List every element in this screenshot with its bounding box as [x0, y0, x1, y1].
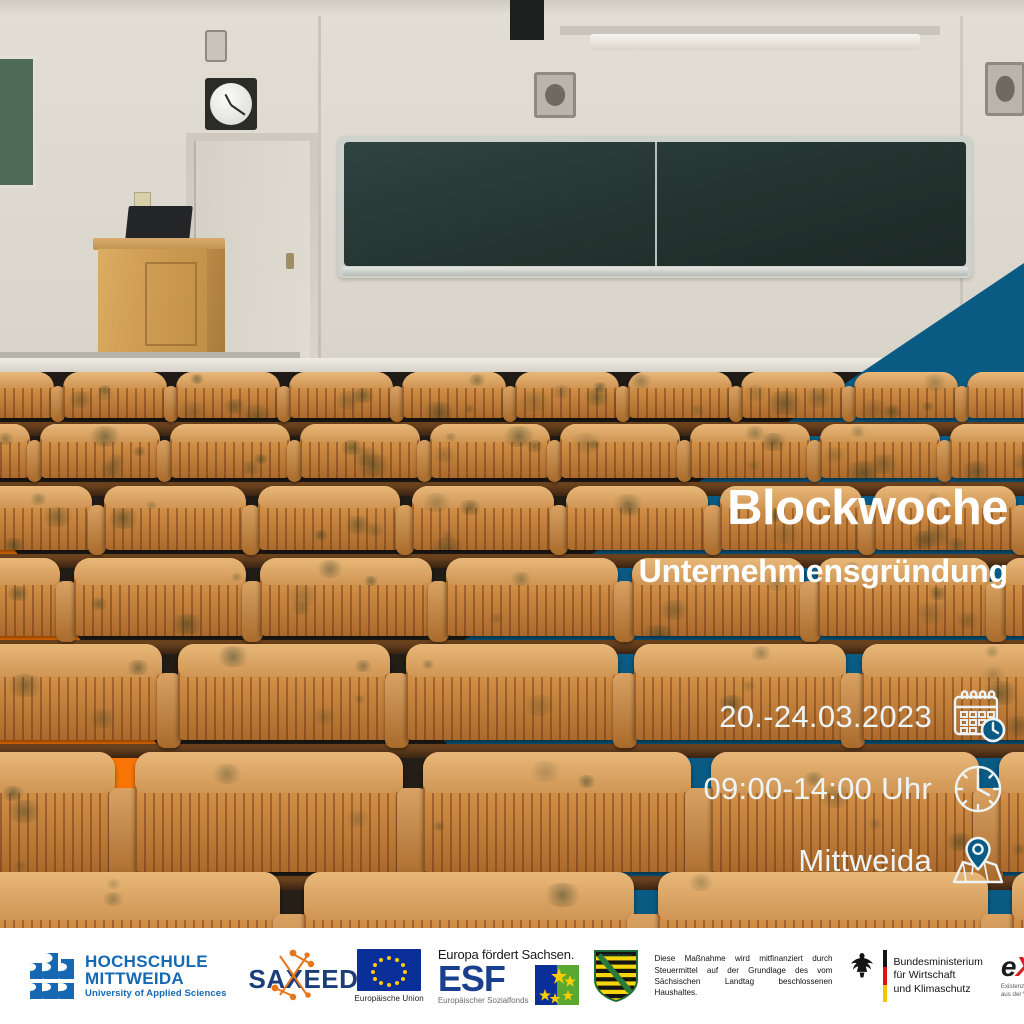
lecture-seat [0, 486, 92, 550]
laptop-icon [125, 206, 193, 240]
lecture-seat [40, 424, 160, 478]
lecture-seat [0, 424, 30, 478]
lecture-seat [289, 372, 393, 418]
lecture-seat [170, 424, 290, 478]
lecture-seat [820, 424, 940, 478]
logo-european-union: Europäische Union [355, 949, 424, 1003]
wall-seam [318, 0, 321, 372]
calendar-clock-icon [948, 688, 1010, 746]
bundesadler-icon [849, 948, 875, 1004]
lecture-seat [854, 372, 958, 418]
wall-box-icon [205, 30, 227, 62]
event-details-list: 20.-24.03.2023 [390, 688, 1010, 904]
green-wall-panel [0, 56, 36, 188]
bmwk-line1: Bundesministerium [894, 956, 983, 969]
lecture-podium [93, 238, 225, 366]
page-title: Blockwoche [308, 484, 1008, 533]
hochschule-line2: MITTWEIDA [85, 970, 227, 987]
poster-canvas: Blockwoche Unternehmensgründung 20.-24.0… [0, 0, 1024, 1024]
hochschule-line3: University of Applied Sciences [85, 989, 227, 999]
stage-rail [0, 352, 300, 358]
esf-subtitle: Europäischer Sozialfonds [438, 996, 529, 1005]
ceiling-duct [510, 0, 544, 40]
clock-icon [948, 760, 1010, 818]
page-subtitle: Unternehmensgründung [308, 555, 1008, 589]
event-detail-time: 09:00-14:00 Uhr [390, 760, 1010, 818]
headline-block: Blockwoche Unternehmensgründung [308, 484, 1008, 589]
lecture-seat [0, 752, 115, 872]
lecture-seat [104, 486, 246, 550]
seat-armrest [1012, 505, 1024, 555]
lecture-seat [135, 752, 403, 872]
logo-bundesministerium: Bundesministerium für Wirtschaft und Kli… [849, 948, 983, 1004]
lecture-seat [741, 372, 845, 418]
funding-note-text: Diese Maßnahme wird mitfinanziert durch … [655, 953, 833, 999]
logo-esf: Europa fördert Sachsen. ESF Europäischer… [438, 947, 579, 1005]
event-time-text: 09:00-14:00 Uhr [703, 771, 932, 807]
lecture-seat [430, 424, 550, 478]
fluorescent-tube-icon [590, 34, 920, 50]
lecture-seat [1012, 872, 1024, 928]
bmwk-line2: für Wirtschaft [894, 969, 983, 982]
lecture-seat [628, 372, 732, 418]
german-flag-bar-icon [883, 950, 887, 1002]
logo-freistaat-sachsen: Freistaat Sachsen [593, 949, 639, 1003]
sponsor-logo-bar: HOCHSCHULE MITTWEIDA University of Appli… [0, 928, 1024, 1024]
saxony-shield-label: Freistaat Sachsen [600, 953, 631, 957]
exist-x: X [1016, 951, 1024, 982]
lecture-seat [967, 372, 1024, 418]
wall-clock-icon [205, 78, 257, 130]
logo-saxeed: SAXEED [249, 948, 345, 1004]
logo-funding-note: Diese Maßnahme wird mitfinanziert durch … [655, 953, 833, 999]
lecture-seat [0, 558, 60, 636]
lecture-seat [74, 558, 246, 636]
eu-flag-icon [357, 949, 421, 991]
lecture-seat [560, 424, 680, 478]
map-pin-icon [948, 832, 1010, 890]
exist-subtitle: Existenzgründungen aus der Wissenschaft [1001, 983, 1024, 999]
exist-wordmark: eXIST [1001, 953, 1024, 981]
bmwk-line3: und Klimaschutz [894, 983, 983, 996]
lecture-seat [176, 372, 280, 418]
lecture-seat [402, 372, 506, 418]
door-handle-icon [286, 253, 294, 269]
exist-e: e [1001, 951, 1016, 982]
hochschule-mittweida-mark-icon [30, 951, 76, 1001]
event-detail-location: Mittweida [390, 832, 1010, 890]
lecture-seat [515, 372, 619, 418]
event-location-text: Mittweida [798, 843, 932, 879]
speaker-icon [985, 62, 1024, 116]
esf-wordmark: ESF [438, 962, 529, 995]
lecture-seat [0, 872, 280, 928]
lecture-seat [0, 372, 54, 418]
saxony-coat-of-arms-icon: Freistaat Sachsen [593, 949, 639, 1003]
hochschule-line1: HOCHSCHULE [85, 953, 227, 970]
event-date-text: 20.-24.03.2023 [719, 699, 932, 735]
lecture-seat [0, 644, 162, 740]
speaker-icon [534, 72, 576, 118]
lecture-seat [300, 424, 420, 478]
lecture-seat [690, 424, 810, 478]
lecture-seat [178, 644, 390, 740]
logo-hochschule-mittweida: HOCHSCHULE MITTWEIDA University of Appli… [30, 951, 227, 1001]
lecture-seat [950, 424, 1024, 478]
eu-caption: Europäische Union [355, 994, 424, 1003]
lecture-seat [63, 372, 167, 418]
logo-exist: eXIST Existenzgründungen aus der Wissens… [1001, 953, 1024, 999]
esf-sachsen-flag-icon [535, 965, 579, 1005]
event-detail-date: 20.-24.03.2023 [390, 688, 1010, 746]
